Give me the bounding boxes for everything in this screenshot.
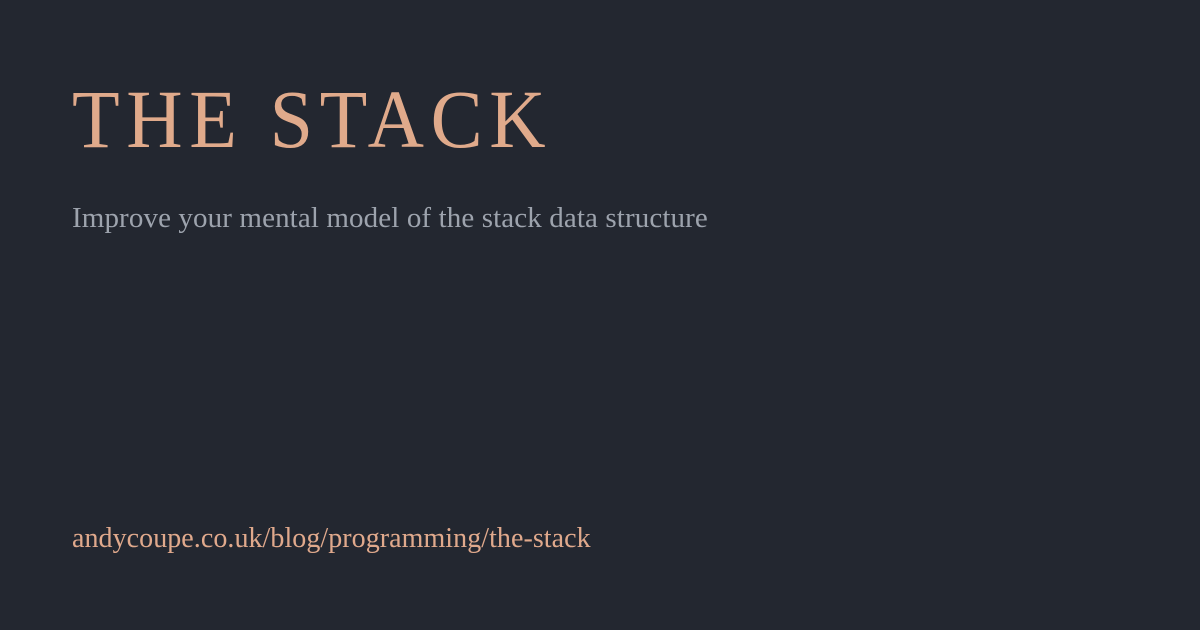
card-content-area: The Stack Improve your mental model of t… [72, 0, 1128, 630]
subtitle-block: Improve your mental model of the stack d… [72, 200, 708, 236]
page-title: The Stack [72, 78, 552, 161]
title-block: The Stack [72, 78, 552, 156]
og-card: The Stack Improve your mental model of t… [0, 0, 1200, 630]
page-subtitle: Improve your mental model of the stack d… [72, 200, 708, 236]
footer-block: andycoupe.co.uk/blog/programming/the-sta… [72, 522, 591, 556]
article-url[interactable]: andycoupe.co.uk/blog/programming/the-sta… [72, 522, 591, 556]
